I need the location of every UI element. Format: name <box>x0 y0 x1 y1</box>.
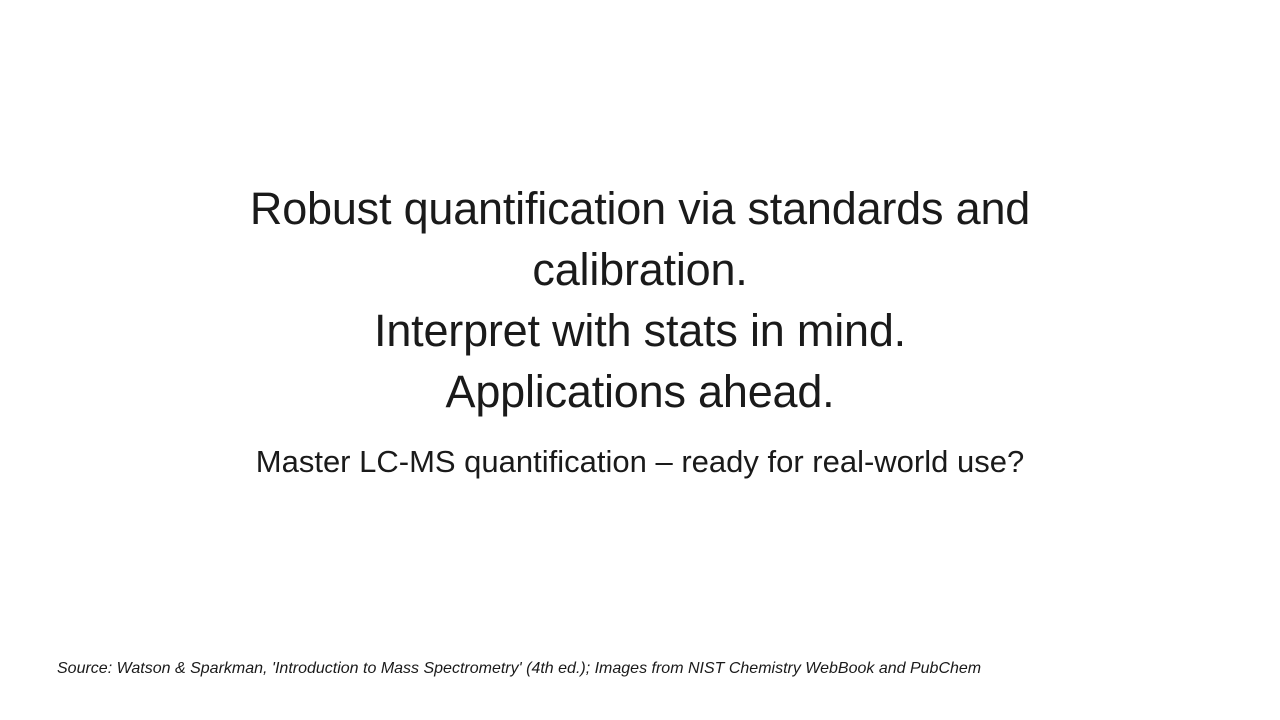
title-line-4: Applications ahead. <box>160 361 1120 422</box>
title-line-2: calibration. <box>160 239 1120 300</box>
slide-subtitle: Master LC-MS quantification – ready for … <box>160 440 1120 484</box>
source-citation-text: Source: Watson & Sparkman, 'Introduction… <box>57 657 1057 680</box>
title-line-1: Robust quantification via standards and <box>160 178 1120 239</box>
presentation-slide: Robust quantification via standards and … <box>0 0 1280 720</box>
source-citation: Source: Watson & Sparkman, 'Introduction… <box>57 657 1057 680</box>
title-line-3: Interpret with stats in mind. <box>160 300 1120 361</box>
slide-title: Robust quantification via standards and … <box>160 178 1120 422</box>
subtitle-text: Master LC-MS quantification – ready for … <box>160 440 1120 484</box>
